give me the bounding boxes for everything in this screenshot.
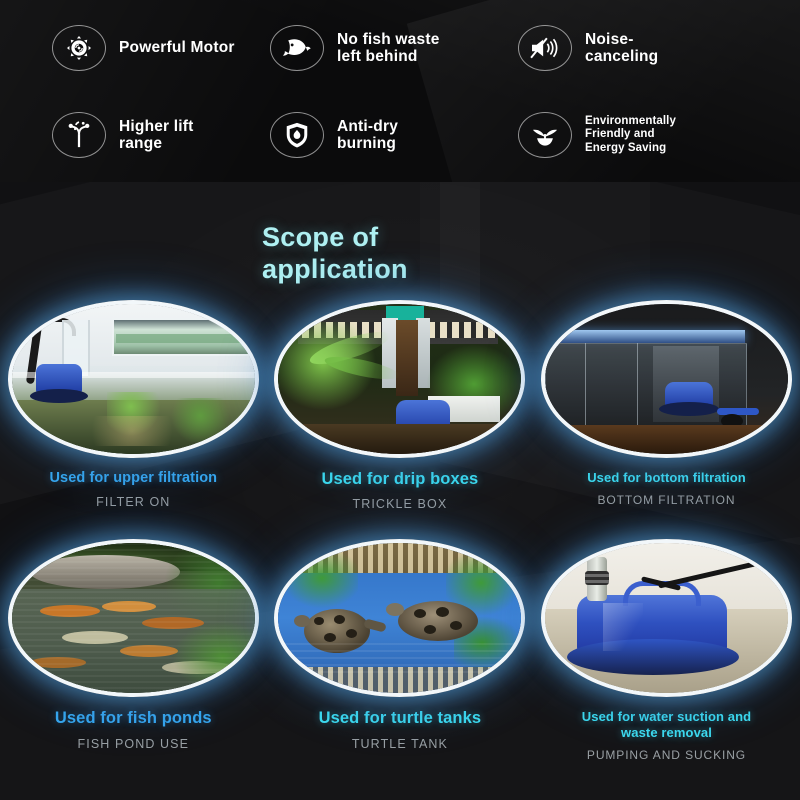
fountain-spray-icon [52,112,106,158]
application-item-water-suction: Used for water suction and waste removal… [533,539,800,762]
product-infographic: Powerful Motor No fish waste left behind [0,0,800,800]
feature-label: Noise- canceling [585,31,658,66]
application-item-drip-boxes: Used for drip boxes TRICKLE BOX [267,300,534,511]
photo-dark-tank-bottom-filtration [541,300,792,458]
item-subcaption: FILTER ON [96,495,170,509]
gear-motor-icon [52,25,106,71]
feature-eco-friendly: Environmentally Friendly and Energy Savi… [500,92,800,178]
application-row-2: Used for fish ponds FISH POND USE [0,539,800,762]
feature-powerful-motor: Powerful Motor [0,4,250,92]
application-item-bottom-filtration: Used for bottom filtration BOTTOM FILTRA… [533,300,800,511]
feature-label: Environmentally Friendly and Energy Savi… [585,115,676,156]
photo-blue-pump-closeup [541,539,792,697]
feature-label: Anti-dry burning [337,118,398,153]
item-caption: Used for fish ponds [55,709,212,728]
feature-label: Powerful Motor [119,39,235,57]
application-item-fish-ponds: Used for fish ponds FISH POND USE [0,539,267,762]
item-subcaption: TURTLE TANK [352,737,448,751]
item-caption: Used for drip boxes [321,470,478,489]
item-subcaption: PUMPING AND SUCKING [587,748,746,762]
shield-flame-icon [270,112,324,158]
item-subcaption: TRICKLE BOX [353,497,448,511]
application-item-turtle-tanks: Used for turtle tanks TURTLE TANK [267,539,534,762]
item-subcaption: FISH POND USE [78,737,190,751]
application-grid: Used for upper filtration FILTER ON [0,300,800,762]
photo-planted-tank-drip-box [274,300,525,458]
features-grid: Powerful Motor No fish waste left behind [0,0,800,178]
feature-noise-canceling: Noise- canceling [500,4,800,92]
item-caption: Used for bottom filtration [587,470,746,485]
section-title: Scope of application [262,221,408,286]
item-caption: Used for upper filtration [49,470,217,487]
feature-no-fish-waste: No fish waste left behind [250,4,500,92]
item-subcaption: BOTTOM FILTRATION [598,493,736,507]
leaf-eco-icon [518,112,572,158]
feature-label: Higher lift range [119,118,194,153]
features-panel: Powerful Motor No fish waste left behind [0,0,800,184]
photo-aquarium-upper-filtration [8,300,259,458]
feature-anti-dry-burning: Anti-dry burning [250,92,500,178]
item-caption: Used for turtle tanks [319,709,482,728]
application-row-1: Used for upper filtration FILTER ON [0,300,800,511]
application-item-upper-filtration: Used for upper filtration FILTER ON [0,300,267,511]
photo-turtle-tank [274,539,525,697]
feature-label: No fish waste left behind [337,31,440,66]
mute-speaker-icon [518,25,572,71]
item-caption: Used for water suction and waste removal [582,709,751,740]
feature-higher-lift-range: Higher lift range [0,92,250,178]
photo-koi-fish-pond [8,539,259,697]
fish-icon [270,25,324,71]
